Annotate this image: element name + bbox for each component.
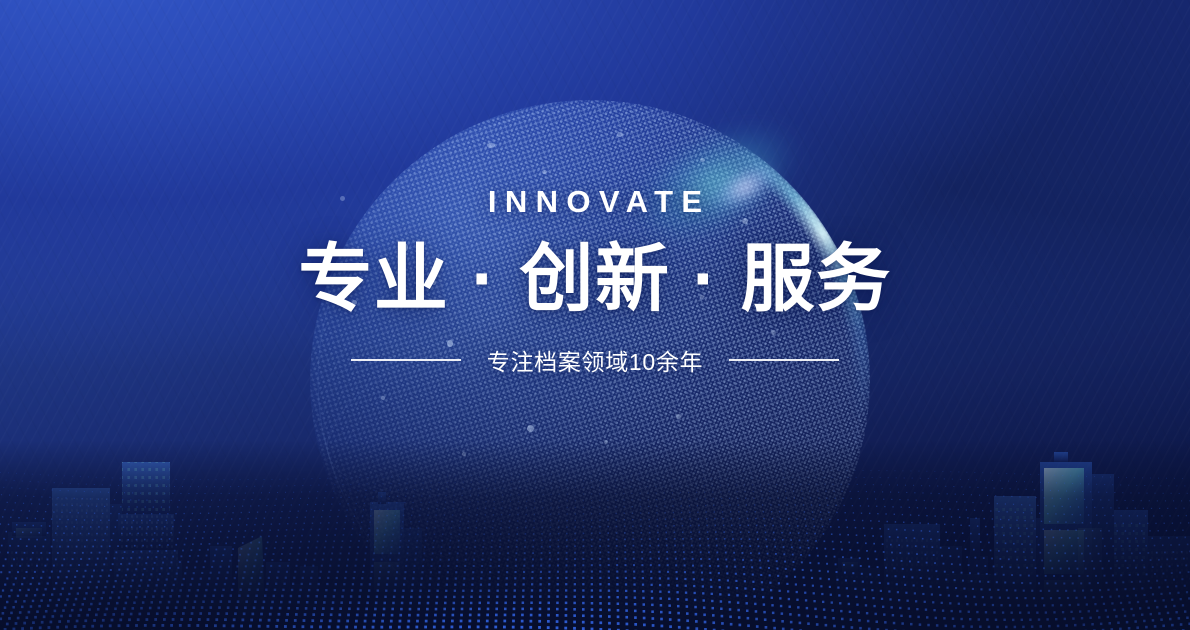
subtitle-row: 专注档案领域10余年	[0, 343, 1190, 377]
particle	[617, 132, 623, 137]
particle	[487, 143, 495, 148]
particle	[462, 452, 466, 456]
eyebrow-text: INNOVATE	[0, 186, 1190, 217]
particle	[676, 414, 681, 419]
subtitle-text: 专注档案领域10余年	[487, 343, 703, 377]
particle	[700, 158, 705, 162]
building-group-left	[8, 462, 422, 630]
cityscape-icon	[0, 370, 1190, 630]
banner-copy: INNOVATE 专业 · 创新 · 服务 专注档案领域10余年	[0, 186, 1190, 377]
page-title: 专业 · 创新 · 服务	[0, 239, 1190, 319]
divider-line-icon-left	[351, 359, 461, 361]
particle	[381, 396, 385, 400]
hero-banner: INNOVATE 专业 · 创新 · 服务 专注档案领域10余年	[0, 0, 1190, 630]
divider-line-icon-right	[729, 359, 839, 361]
particle	[542, 170, 547, 174]
particle	[527, 425, 534, 432]
particle	[604, 440, 608, 444]
ground-fade	[0, 440, 1190, 630]
building-group-right	[806, 452, 1190, 630]
city-skyline-svg	[0, 370, 1190, 630]
dot-wave-icon	[0, 430, 1190, 630]
